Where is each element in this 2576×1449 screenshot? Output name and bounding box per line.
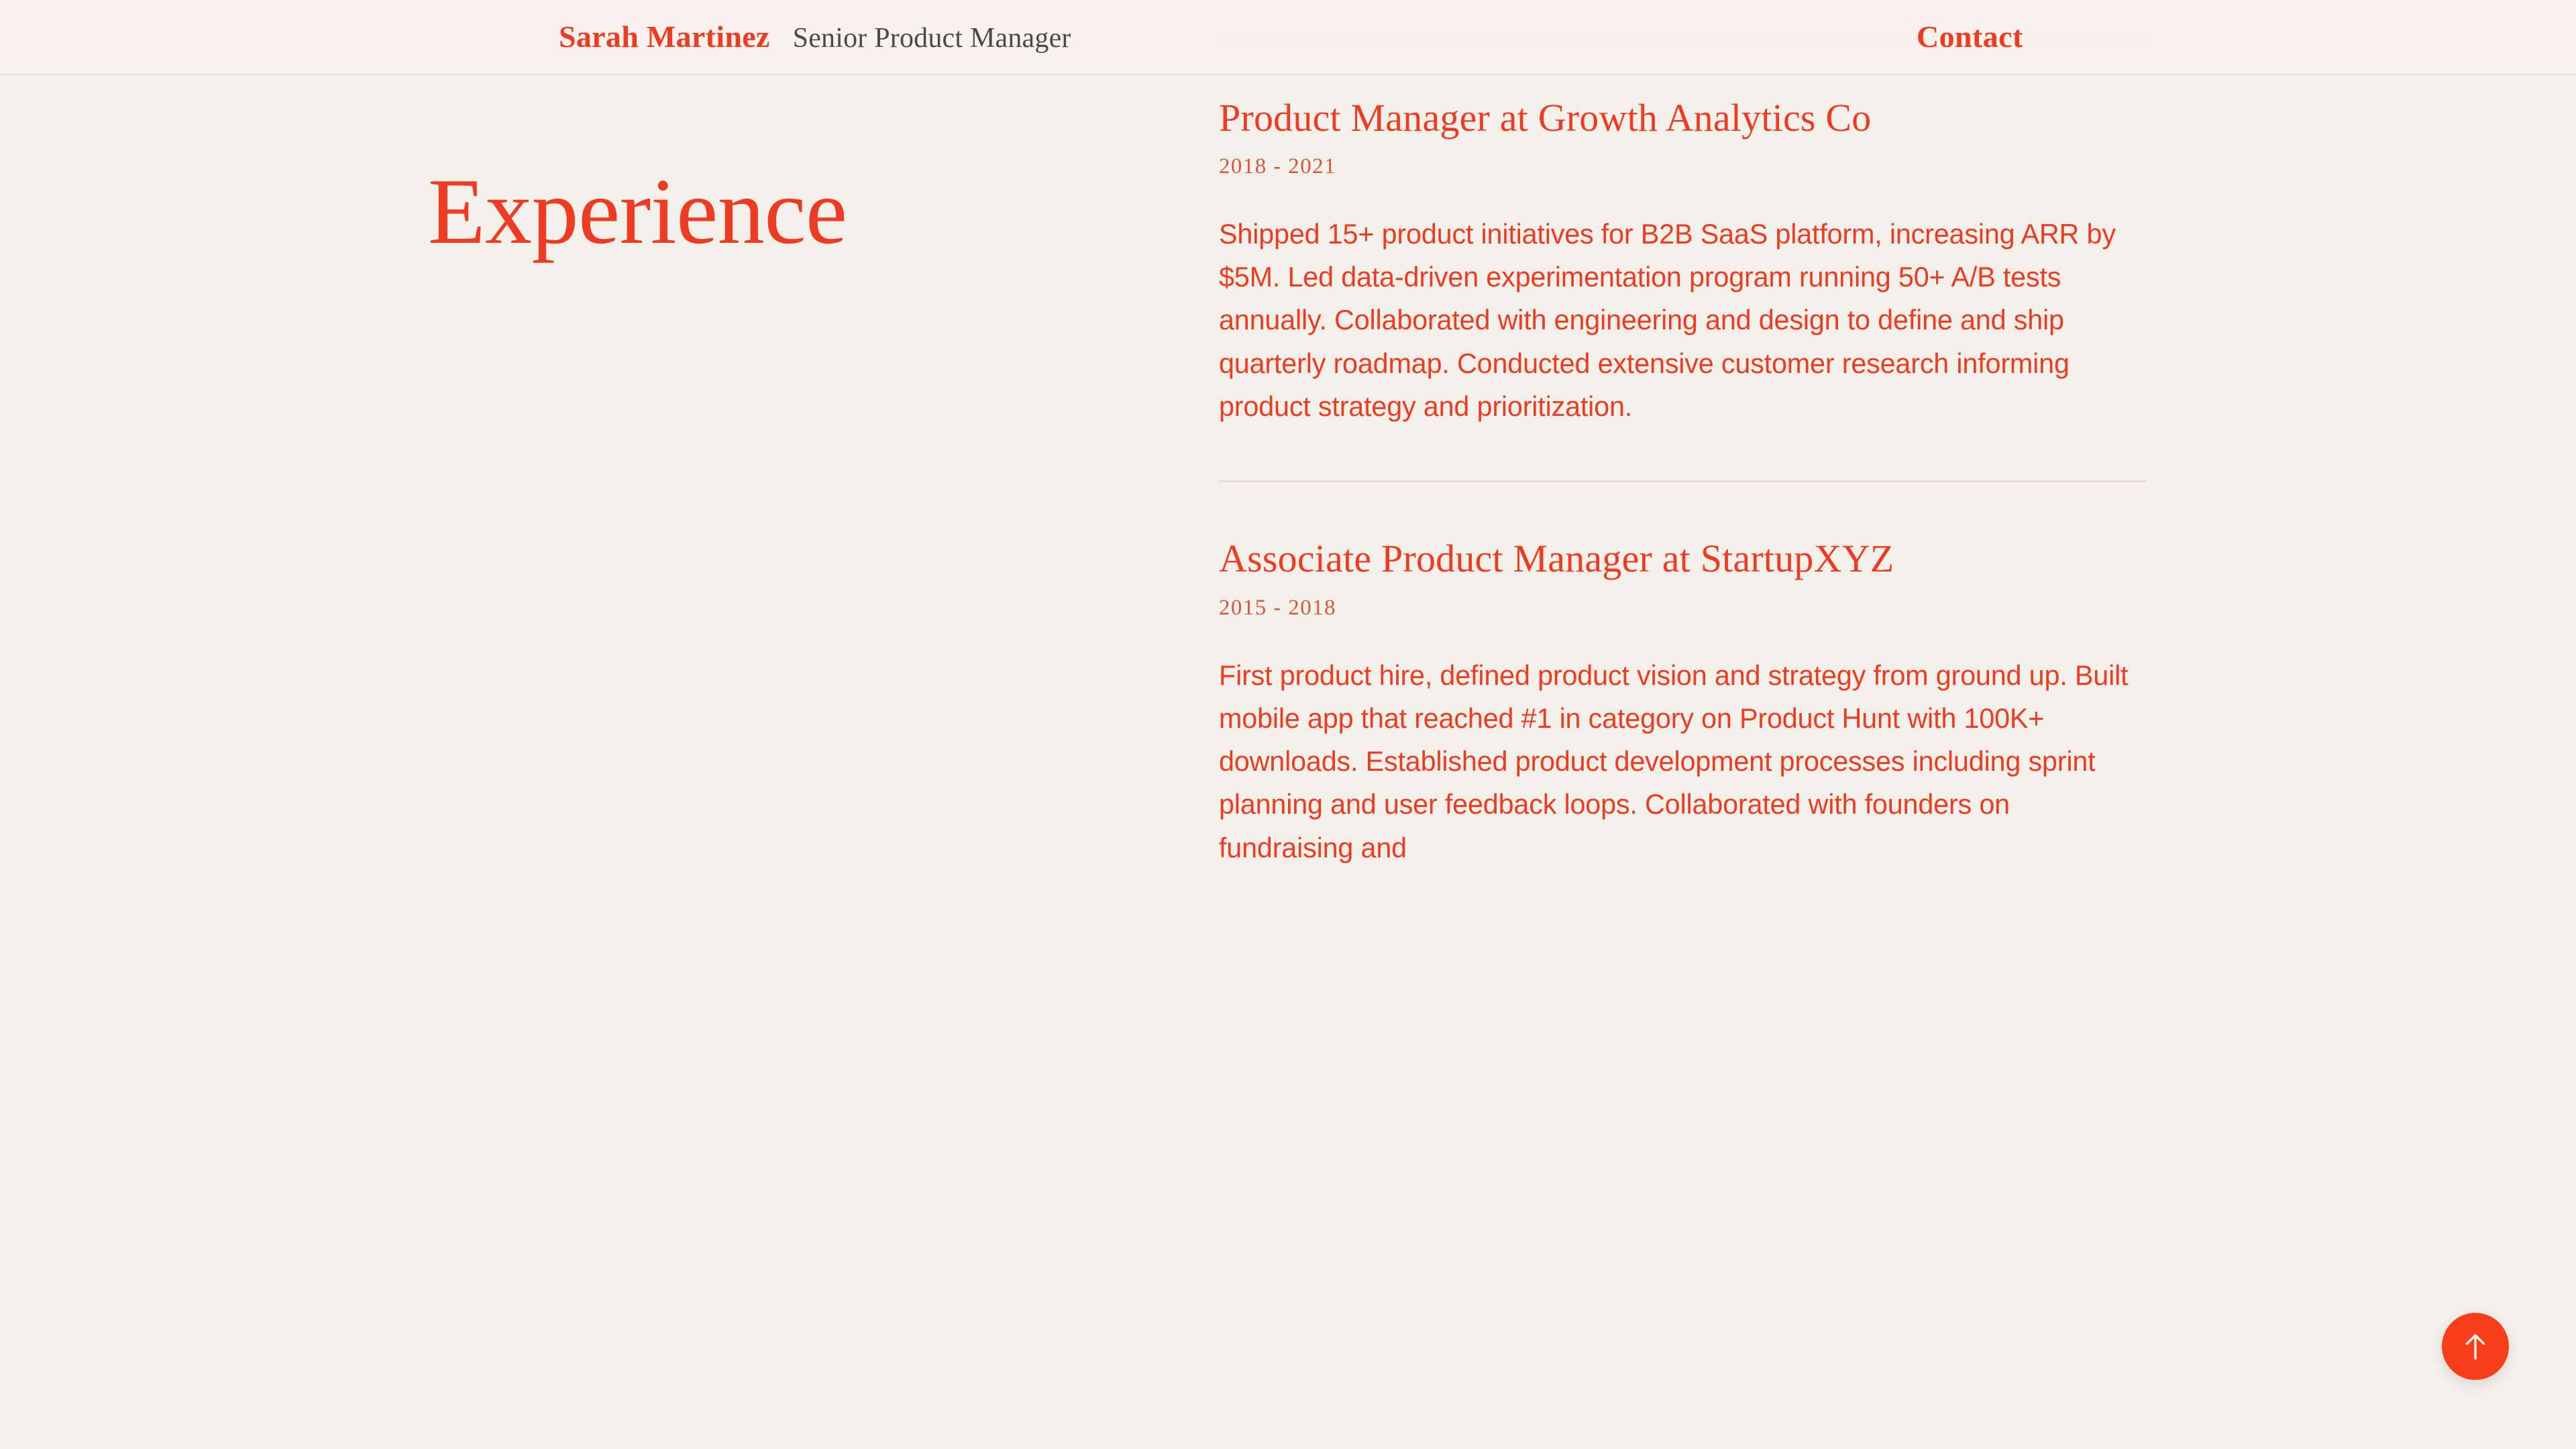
page-content: Experience engineers, designers, and ana… (0, 0, 2576, 1449)
page-title: Experience (428, 165, 847, 259)
experience-entry-title: Product Manager at Growth Analytics Co (1219, 95, 2147, 141)
experience-entry: Associate Product Manager at StartupXYZ … (1219, 536, 2147, 869)
experience-entry-description: First product hire, defined product visi… (1219, 654, 2133, 869)
experience-entry: Product Manager at Growth Analytics Co 2… (1219, 95, 2147, 429)
brand-name[interactable]: Sarah Martinez (559, 21, 770, 52)
scroll-to-top-button[interactable] (2442, 1313, 2509, 1380)
nav-link-contact[interactable]: Contact (1917, 21, 2023, 52)
site-header: Sarah Martinez Senior Product Manager Co… (0, 0, 2576, 75)
experience-entry-description: Shipped 15+ product initiatives for B2B … (1219, 213, 2133, 428)
entry-divider (1219, 480, 2147, 482)
experience-entry-dates: 2018 - 2021 (1219, 156, 2147, 178)
brand-role-subtitle: Senior Product Manager (793, 24, 1071, 52)
brand-group[interactable]: Sarah Martinez Senior Product Manager (559, 21, 1071, 52)
arrow-up-icon (2462, 1332, 2489, 1360)
experience-list: engineers, designers, and analysts. Defi… (1219, 0, 2147, 869)
experience-entry-title: Associate Product Manager at StartupXYZ (1219, 536, 2147, 582)
experience-entry-dates: 2015 - 2018 (1219, 597, 2147, 619)
